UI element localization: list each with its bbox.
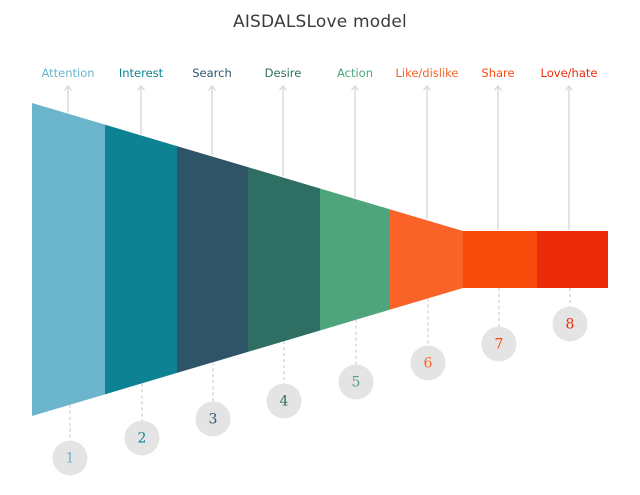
stage-arrow-icon xyxy=(65,86,72,113)
step-badge-label-1: 1 xyxy=(66,451,75,467)
step-badge-label-6: 6 xyxy=(424,356,433,372)
funnel-segment-8[interactable] xyxy=(537,231,608,288)
funnel-diagram: AISDALSLove model AttentionInterestSearc… xyxy=(0,0,640,495)
stage-arrow-icon xyxy=(209,86,216,155)
stage-arrow-icon xyxy=(352,86,359,198)
stage-arrow-icon xyxy=(280,86,287,177)
funnel-segment-3[interactable] xyxy=(177,146,248,373)
funnel-segment-2[interactable] xyxy=(105,125,177,395)
funnel-canvas: 12345678 xyxy=(0,0,640,495)
stage-arrow-icon xyxy=(424,86,431,219)
step-badge-label-8: 8 xyxy=(566,317,575,333)
step-badge-label-5: 5 xyxy=(352,375,361,391)
stage-arrow-icon xyxy=(566,86,573,230)
step-badge-label-4: 4 xyxy=(280,394,289,410)
funnel-segment-group xyxy=(32,103,608,416)
step-badge-label-3: 3 xyxy=(209,412,218,428)
funnel-segment-4[interactable] xyxy=(248,167,320,352)
funnel-segment-5[interactable] xyxy=(320,189,390,331)
step-badge-label-7: 7 xyxy=(495,337,504,353)
funnel-segment-1[interactable] xyxy=(32,103,105,416)
stage-arrow-icon xyxy=(495,86,502,230)
step-badge-label-2: 2 xyxy=(138,431,147,447)
funnel-segment-7[interactable] xyxy=(463,231,537,288)
funnel-segment-6[interactable] xyxy=(390,209,463,309)
stage-arrow-icon xyxy=(138,86,145,134)
